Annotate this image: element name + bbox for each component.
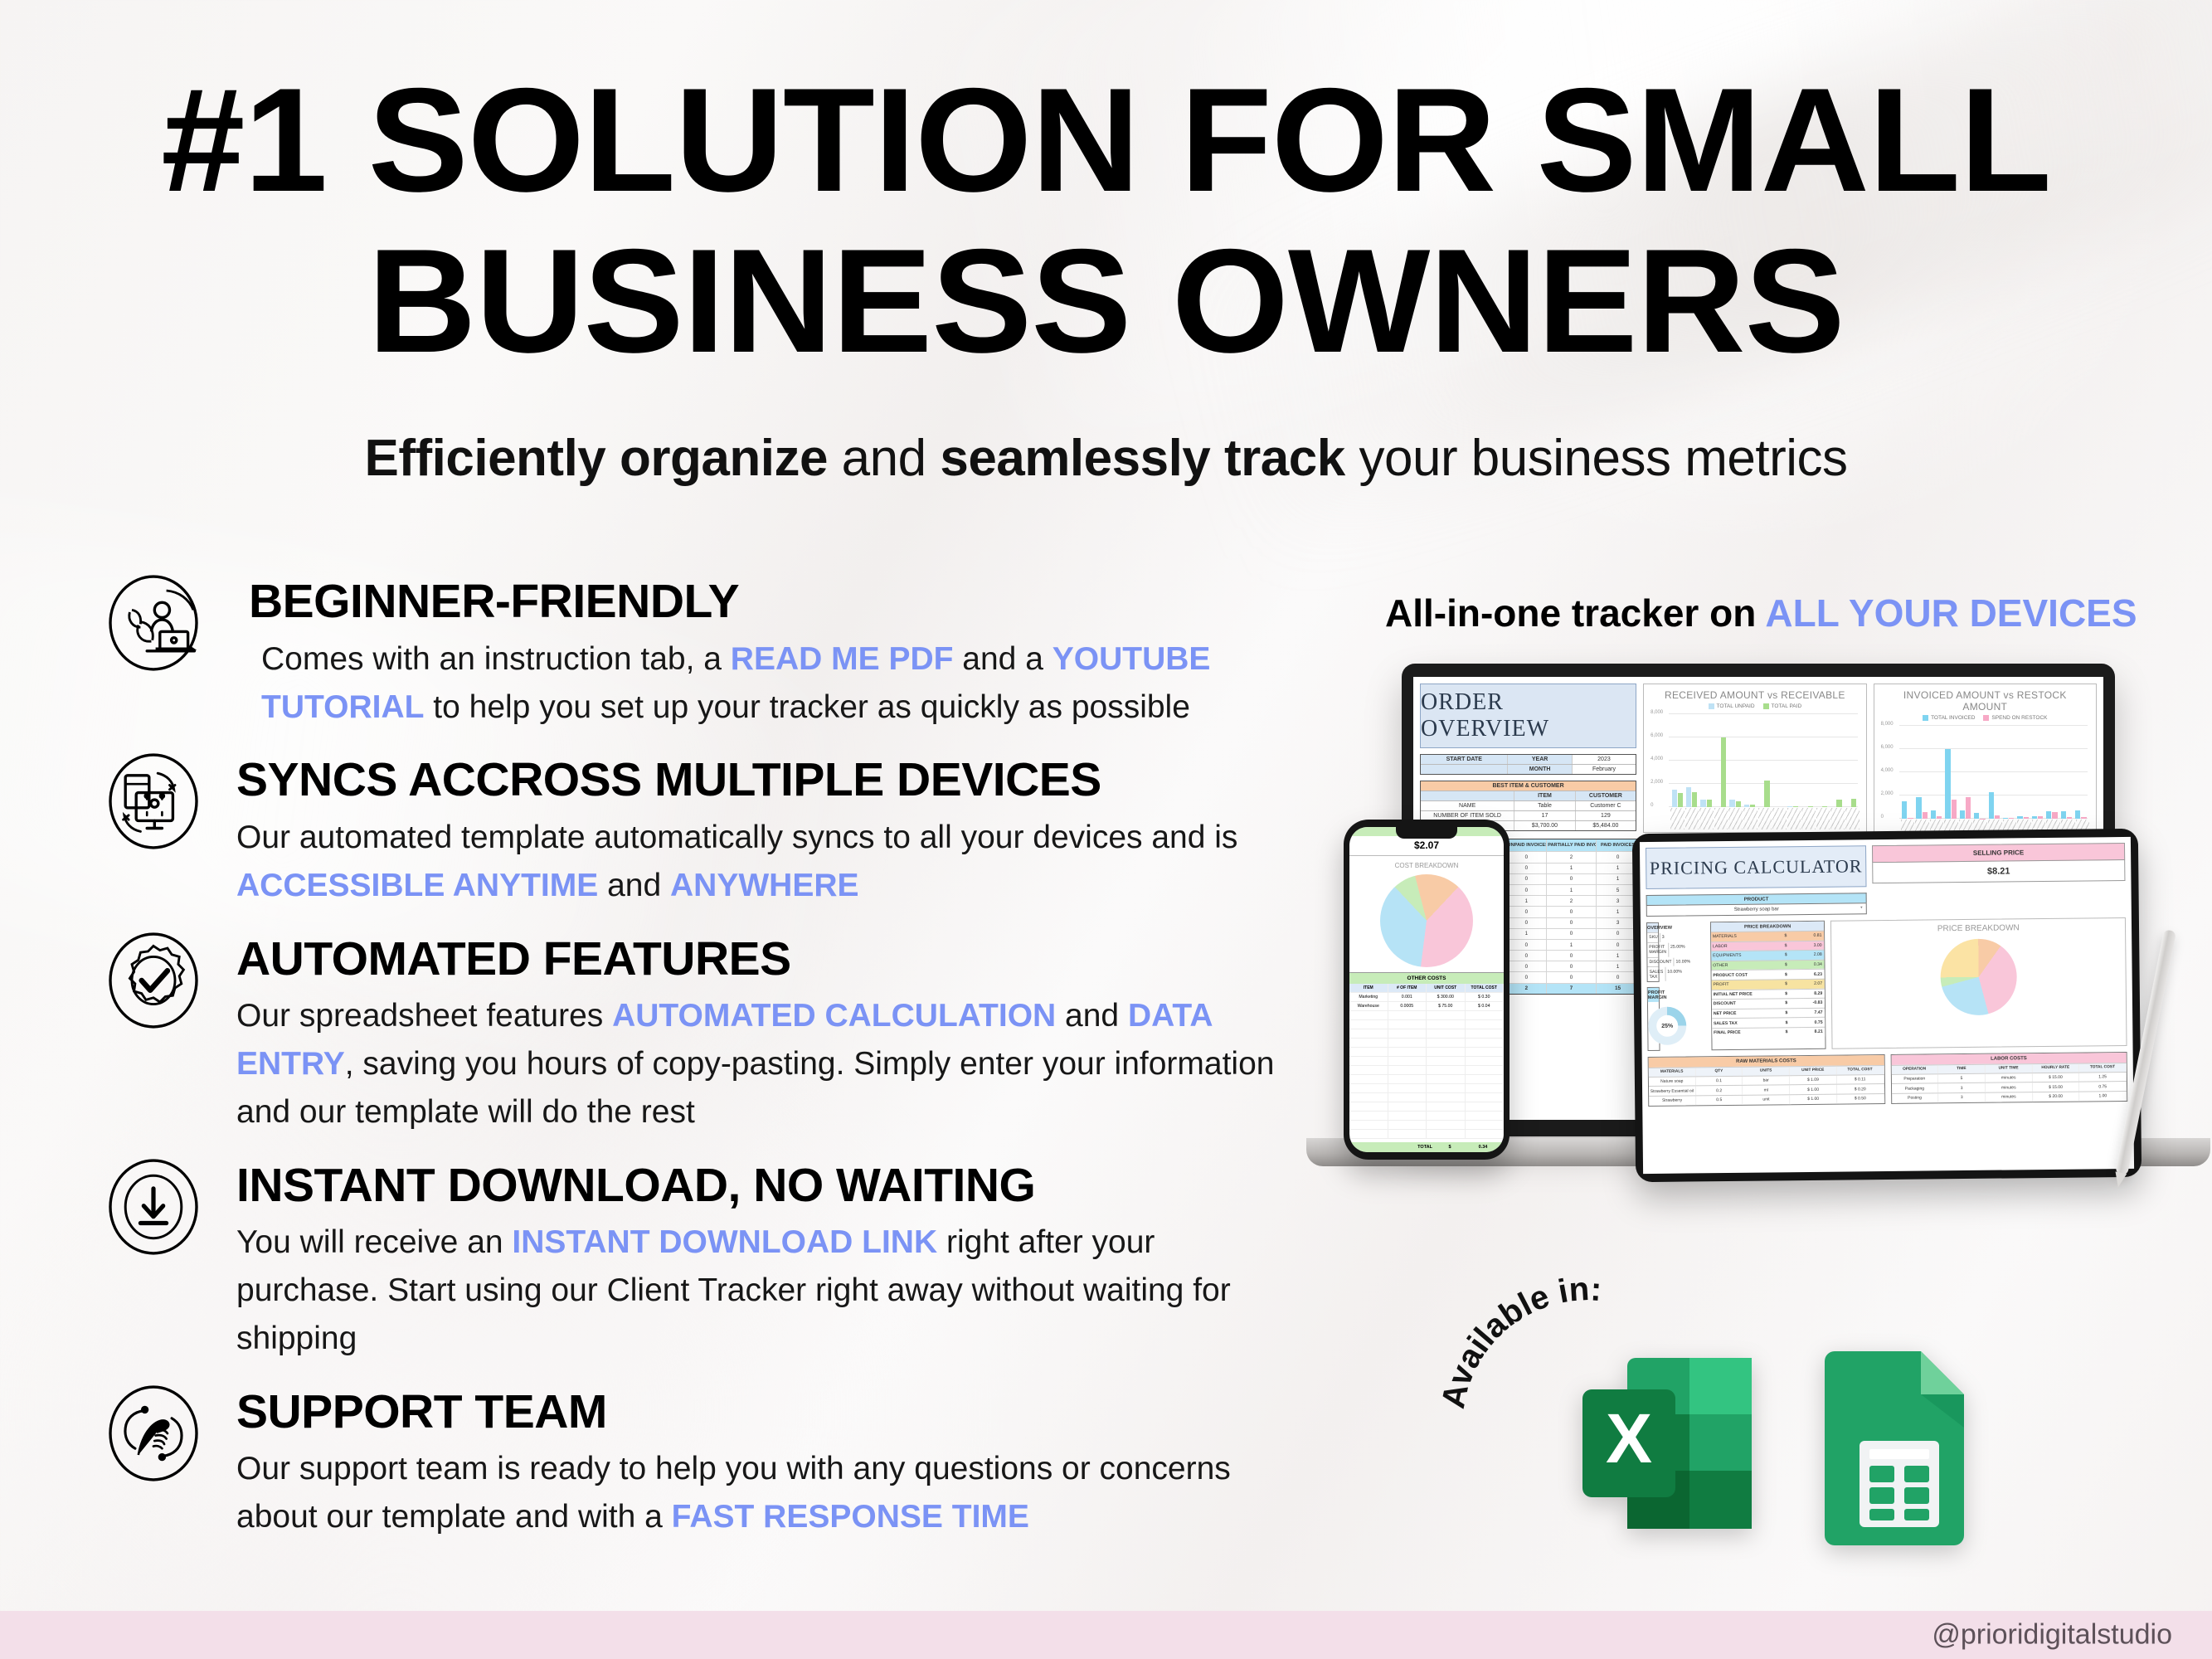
table-header-cell: UNPAID INVOICES: [1507, 839, 1548, 851]
feature-description: Comes with an instruction tab, a READ ME…: [249, 635, 1286, 731]
table-cell: 0: [1507, 972, 1548, 982]
chart-plot-area: 8,0006,0004,0002,0000: [1881, 726, 2089, 819]
table-cell: [1466, 1011, 1505, 1019]
table-cell: [1388, 1048, 1427, 1056]
devices-heading-plain: All-in-one tracker on: [1385, 591, 1765, 635]
table-cell: ml: [1743, 1086, 1790, 1095]
table-row: SALES TAX10.00%: [1647, 966, 1659, 981]
studio-handle: @prioridigitalstudio: [1932, 1619, 2172, 1652]
table-cell: $ 1.00: [1790, 1085, 1837, 1094]
table-cell: PROFIT MARGIN: [1647, 943, 1668, 957]
table-cell: 6.23: [1791, 970, 1825, 979]
table-cell: [1427, 1102, 1466, 1111]
devices-heading: All-in-one tracker on ALL YOUR DEVICES: [1385, 591, 2132, 635]
table-cell: $ 0.50: [1837, 1094, 1884, 1103]
feature-description: You will receive an INSTANT DOWNLOAD LIN…: [236, 1219, 1277, 1362]
table-cell: 1: [1507, 929, 1548, 939]
table-cell: INITIAL NET PRICE: [1712, 990, 1782, 999]
table-cell: 0.81: [1790, 932, 1824, 941]
table-cell: $: [1782, 980, 1791, 989]
table-cell: $: [1782, 961, 1791, 970]
table-cell: 1.00: [2079, 1092, 2127, 1101]
devices-heading-highlight: ALL YOUR DEVICES: [1765, 591, 2137, 635]
table-cell: 1.25: [2079, 1073, 2127, 1082]
table-cell: [1466, 1057, 1505, 1065]
desc-highlight-automated-calculation: AUTOMATED CALCULATION: [612, 998, 1056, 1034]
table-cell: [1427, 1075, 1466, 1083]
table-cell: $ 0.04: [1466, 1002, 1505, 1010]
table-cell: 0: [1507, 874, 1548, 884]
chart-x-tick-labels: [1670, 808, 1859, 829]
table-header-cell: UNIT COST: [1427, 984, 1466, 992]
table-cell: FINAL PRICE: [1712, 1028, 1782, 1037]
table-cell: 10.00%: [1665, 967, 1684, 981]
table-cell: 1: [1507, 896, 1548, 906]
table-cell: [1388, 1121, 1427, 1129]
table-cell: $: [1782, 1019, 1791, 1028]
overview-table: OVERVIEW SKU3PROFIT MARGIN25.00%DISCOUNT…: [1646, 922, 1660, 982]
table-cell: [1349, 1039, 1388, 1047]
feature-item-automated-features: AUTOMATED FEATURES Our spreadsheet featu…: [100, 927, 1286, 1136]
phone-total-row: TOTAL $ 0.34: [1349, 1142, 1504, 1152]
table-cell: Warehouse: [1349, 1002, 1388, 1010]
table-cell: MATERIALS: [1711, 932, 1782, 941]
person-laptop-leaf-icon: [100, 569, 207, 677]
table-cell: $: [1782, 999, 1791, 1008]
phone-table-title: OTHER COSTS: [1349, 972, 1504, 984]
feature-item-instant-download: INSTANT DOWNLOAD, NO WAITING You will re…: [100, 1153, 1286, 1363]
table-cell: [1427, 1121, 1466, 1129]
table-cell: $: [1782, 1028, 1791, 1037]
table-cell: 0: [1507, 864, 1548, 873]
table-cell: 3: [1938, 1083, 1986, 1092]
feature-description: Our spreadsheet features AUTOMATED CALCU…: [236, 992, 1277, 1136]
table-header-cell: ITEM: [1349, 984, 1388, 992]
phone-chart-title: COST BREAKDOWN: [1349, 862, 1504, 869]
table-cell: [1388, 1011, 1427, 1019]
price-breakdown-pie-panel: PRICE BREAKDOWN: [1830, 917, 2127, 1049]
table-cell: [1349, 1011, 1388, 1019]
table-cell: 0.75: [2079, 1082, 2127, 1091]
table-cell: $ 0.11: [1837, 1075, 1884, 1084]
table-cell: 0.34: [1791, 961, 1825, 970]
table-cell: [1427, 1057, 1466, 1065]
table-row: [1349, 1084, 1504, 1093]
table-cell: $: [1782, 990, 1791, 999]
table-cell: 0.001: [1388, 993, 1427, 1001]
feature-item-syncs-devices: SYNCS ACCROSS MULTIPLE DEVICES Our autom…: [100, 747, 1286, 909]
start-date-table: START DATEYEAR2023 MONTHFebruary: [1420, 754, 1636, 775]
table-row: SALES TAX$0.75: [1712, 1017, 1826, 1028]
subtitle-mid: and: [828, 430, 940, 487]
table-cell: 0: [1547, 874, 1597, 884]
handshake-support-icon: [100, 1379, 207, 1487]
google-sheets-logo: [1816, 1340, 1982, 1555]
table-header-cell: TOTAL COST: [1837, 1066, 1884, 1074]
table-row: Marketing0.001$ 300.00$ 0.30: [1349, 993, 1504, 1002]
table-row: LABOR$3.00: [1711, 940, 1825, 951]
table-cell: [1388, 1057, 1427, 1065]
table-cell: [1427, 1048, 1466, 1056]
table-cell: [1349, 1057, 1388, 1065]
table-cell: [1349, 1121, 1388, 1129]
table-header-cell: HOURLY RATE: [2032, 1064, 2079, 1073]
table-cell: [1349, 1020, 1388, 1029]
table-cell: [1466, 1121, 1505, 1129]
table-cell: -0.83: [1791, 999, 1825, 1008]
table-row: PROFIT MARGIN25.00%: [1647, 942, 1659, 957]
table-row: SKU3: [1647, 932, 1658, 942]
table-cell: $ 0.20: [1837, 1084, 1884, 1093]
table-row: [1349, 1020, 1504, 1029]
table-cell: [1349, 1029, 1388, 1038]
table-cell: $: [1781, 932, 1790, 941]
table-cell: 10.00%: [1673, 957, 1692, 966]
table-cell: [1349, 1084, 1388, 1092]
table-cell: SALES TAX: [1648, 967, 1665, 981]
feature-item-beginner-friendly: BEGINNER-FRIENDLY Comes with an instruct…: [100, 569, 1286, 731]
table-row: DISCOUNT10.00%: [1647, 956, 1658, 966]
phone-notch: [1396, 827, 1457, 839]
table-cell: [1466, 1039, 1505, 1047]
table-cell: 2: [1547, 896, 1597, 906]
feature-title: SUPPORT TEAM: [236, 1388, 1286, 1438]
desc-part: and: [1056, 998, 1128, 1034]
table-row: INITIAL NET PRICE$8.29: [1712, 988, 1826, 999]
table-header-cell: TOTAL COST: [1466, 984, 1505, 992]
feature-item-support-team: SUPPORT TEAM Our support team is ready t…: [100, 1379, 1286, 1541]
feature-description: Our automated template automatically syn…: [236, 814, 1277, 909]
table-cell: 2.08: [1791, 951, 1825, 960]
labor-costs-table: LABOR COSTS OPERATIONTIMEUNIT TIMEHOURLY…: [1890, 1052, 2127, 1103]
table-cell: 0: [1507, 907, 1548, 917]
table-header-cell: UNIT TIME: [1986, 1064, 2033, 1073]
table-cell: 0: [1507, 918, 1548, 928]
table-cell: 0.5: [1696, 1096, 1743, 1105]
table-cell: $: [1782, 951, 1791, 960]
table-cell: 0.75: [1791, 1018, 1825, 1027]
table-cell: [1349, 1066, 1388, 1074]
raw-materials-costs-table: RAW MATERIALS COSTS MATERIALSQTYUNITSUNI…: [1648, 1054, 1885, 1106]
feature-title: AUTOMATED FEATURES: [236, 935, 1286, 985]
table-cell: 0.1: [1696, 1077, 1743, 1086]
table-cell: 2.07: [1791, 980, 1825, 989]
table-cell: Strawberry Essential oil: [1649, 1087, 1696, 1096]
page-title-line2: BUSINESS OWNERS: [0, 226, 2212, 377]
desc-part: Our automated template automatically syn…: [236, 820, 1237, 855]
table-cell: [1466, 1130, 1505, 1138]
table-cell: [1349, 1048, 1388, 1056]
table-cell: [1388, 1039, 1427, 1047]
chart-plot-area: 8,0006,0004,0002,0000: [1650, 714, 1859, 807]
table-cell: $ 15.00: [2033, 1082, 2080, 1092]
price-breakdown-pie: [1940, 938, 2017, 1015]
table-cell: $ 0.30: [1466, 993, 1505, 1001]
table-cell: 3: [1938, 1093, 1986, 1102]
price-breakdown-table: PRICE BREAKDOWN MATERIALS$0.81LABOR$3.00…: [1710, 921, 1826, 1051]
microsoft-excel-logo: X: [1568, 1340, 1767, 1547]
table-header-cell: OPERATION: [1891, 1065, 1938, 1073]
table-row: [1349, 1039, 1504, 1048]
feature-description: Our support team is ready to help you wi…: [236, 1445, 1277, 1540]
feature-title: INSTANT DOWNLOAD, NO WAITING: [236, 1161, 1286, 1211]
file-format-logos: X: [1568, 1340, 1982, 1555]
table-cell: [1466, 1093, 1505, 1102]
table-row: NET PRICE$7.47: [1712, 1008, 1826, 1019]
table-cell: $ 20.00: [2033, 1092, 2080, 1101]
table-cell: LABOR: [1711, 941, 1782, 951]
table-cell: [1388, 1102, 1427, 1111]
table-cell: Packaging: [1891, 1084, 1938, 1093]
phone-profit-value: $2.07: [1349, 836, 1504, 856]
table-cell: [1427, 1066, 1466, 1074]
table-row: [1349, 1048, 1504, 1057]
table-cell: [1466, 1112, 1505, 1120]
table-cell: [1427, 1011, 1466, 1019]
table-cell: OTHER: [1711, 961, 1782, 970]
table-cell: Strawberry: [1649, 1096, 1696, 1105]
desc-highlight-instant-download-link: INSTANT DOWNLOAD LINK: [512, 1224, 937, 1260]
table-cell: 3: [1660, 933, 1666, 942]
svg-text:X: X: [1606, 1399, 1652, 1477]
profit-margin-donut: 25%: [1648, 1007, 1686, 1045]
table-cell: [1427, 1029, 1466, 1038]
subtitle-tail: your business metrics: [1345, 430, 1848, 487]
feature-title: SYNCS ACCROSS MULTIPLE DEVICES: [236, 756, 1286, 805]
page-header: #1 SOLUTION FOR SMALL BUSINESS OWNERS Ef…: [0, 0, 2212, 488]
table-cell: 0: [1547, 972, 1597, 982]
table-cell: [1388, 1112, 1427, 1120]
phone-screen: PROFIT $2.07 COST BREAKDOWN OTHER COSTS …: [1349, 827, 1504, 1152]
table-row: [1349, 1093, 1504, 1102]
table-cell: Nature soap: [1649, 1077, 1696, 1086]
pricing-calculator-title: PRICING CALCULATOR: [1646, 845, 1866, 889]
table-cell: [1388, 1066, 1427, 1074]
selling-price-value: $8.21: [1872, 860, 2125, 883]
table-cell: 5: [1938, 1073, 1986, 1082]
table-row: PROFIT$2.07: [1711, 979, 1825, 990]
table-cell: SALES TAX: [1712, 1019, 1782, 1028]
table-cell: [1466, 1029, 1505, 1038]
desc-part: You will receive an: [236, 1224, 512, 1260]
table-cell: $: [1782, 1009, 1791, 1018]
table-cell: [1388, 1075, 1427, 1083]
desc-part: , saving you hours of copy-pasting. Simp…: [236, 1046, 1274, 1130]
table-cell: [1466, 1102, 1505, 1111]
table-cell: [1466, 1066, 1505, 1074]
chart-legend: TOTAL INVOICED SPEND ON RESTOCK: [1881, 715, 2089, 721]
table-cell: 0: [1507, 961, 1548, 971]
table-cell: minutes: [1986, 1092, 2033, 1102]
table-cell: 0: [1507, 885, 1548, 895]
device-mockup-group: ORDER OVERVIEW START DATEYEAR2023 MONTHF…: [1269, 655, 2190, 1186]
page-subtitle: Efficiently organize and seamlessly trac…: [0, 429, 2212, 488]
desc-highlight-fast-response-time: FAST RESPONSE TIME: [672, 1499, 1029, 1535]
table-cell: minutes: [1986, 1082, 2033, 1092]
table-cell: [1427, 1039, 1466, 1047]
table-cell: $ 15.00: [2032, 1073, 2079, 1082]
table-row: OTHER$0.34: [1711, 960, 1825, 971]
gear-check-badge-icon: [100, 927, 207, 1034]
table-cell: $ 75.00: [1427, 1002, 1466, 1010]
table-cell: 7: [1547, 984, 1597, 994]
table-cell: 8.29: [1791, 989, 1825, 998]
table-cell: EQUIPMENTS: [1711, 951, 1782, 961]
table-cell: 1: [1547, 885, 1597, 895]
table-row: [1349, 1075, 1504, 1084]
devices-sync-icon: [100, 747, 207, 855]
table-cell: 8.21: [1791, 1028, 1826, 1037]
chart-invoiced-vs-restock: INVOICED AMOUNT vs RESTOCK AMOUNT TOTAL …: [1874, 684, 2097, 833]
table-cell: 0: [1547, 907, 1597, 917]
table-cell: 0: [1507, 940, 1548, 950]
chart-received-vs-receivable: RECEIVED AMOUNT vs RECEIVABLE TOTAL UNPA…: [1643, 684, 1866, 833]
subtitle-bold-2: seamlessly track: [940, 430, 1344, 487]
table-cell: [1349, 1130, 1388, 1138]
table-header-cell: UNIT PRICE: [1790, 1067, 1837, 1075]
table-row: DISCOUNT$-0.83: [1712, 998, 1826, 1009]
table-cell: [1349, 1075, 1388, 1083]
table-cell: $ 1.00: [1790, 1095, 1837, 1104]
table-cell: [1427, 1020, 1466, 1029]
footer-bar: @prioridigitalstudio: [0, 1611, 2212, 1659]
table-row: Warehouse0.0005$ 75.00$ 0.04: [1349, 1002, 1504, 1011]
desc-part: to help you set up your tracker as quick…: [424, 689, 1189, 725]
table-row: FINAL PRICE$8.21: [1712, 1027, 1826, 1038]
table-cell: [1388, 1084, 1427, 1092]
table-cell: PRODUCT COST: [1711, 971, 1782, 980]
phone-mockup: PROFIT $2.07 COST BREAKDOWN OTHER COSTS …: [1344, 820, 1510, 1160]
table-cell: 1: [1547, 940, 1597, 950]
table-row: [1349, 1112, 1504, 1121]
table-cell: SKU: [1647, 933, 1660, 942]
table-cell: $: [1782, 971, 1791, 980]
table-cell: 7.47: [1791, 1009, 1825, 1018]
table-cell: [1427, 1093, 1466, 1102]
table-row: [1349, 1130, 1504, 1139]
table-cell: $ 1.09: [1790, 1075, 1837, 1084]
desc-part: Our spreadsheet features: [236, 998, 612, 1034]
table-row: MATERIALS$0.81: [1711, 931, 1825, 941]
table-cell: unit: [1743, 1095, 1791, 1104]
table-cell: 0.0005: [1388, 1002, 1427, 1010]
table-header-row: ITEM# OF ITEMUNIT COSTTOTAL COST: [1349, 984, 1504, 993]
table-cell: [1427, 1130, 1466, 1138]
table-cell: [1466, 1084, 1505, 1092]
table-cell: 25.00%: [1668, 942, 1687, 956]
table-cell: 1: [1547, 864, 1597, 873]
table-header-cell: # OF ITEM: [1388, 984, 1427, 992]
table-row: [1349, 1102, 1504, 1112]
table-cell: [1427, 1112, 1466, 1120]
feature-list: BEGINNER-FRIENDLY Comes with an instruct…: [100, 569, 1286, 1558]
desc-part: Comes with an instruction tab, a: [261, 641, 731, 677]
table-cell: [1388, 1029, 1427, 1038]
table-cell: 0.2: [1696, 1086, 1743, 1095]
table-cell: 2: [1507, 984, 1548, 994]
table-cell: 0: [1547, 961, 1597, 971]
table-row: [1349, 1029, 1504, 1039]
table-cell: 0: [1507, 852, 1548, 862]
table-cell: NET PRICE: [1712, 1009, 1782, 1018]
table-cell: [1349, 1102, 1388, 1111]
download-arrow-icon: [100, 1153, 207, 1261]
desc-part: and: [598, 868, 670, 903]
table-row: [1349, 1121, 1504, 1130]
table-cell: Marketing: [1349, 993, 1388, 1001]
table-header-cell: UNITS: [1743, 1067, 1790, 1075]
profit-margin-panel: PROFIT MARGIN 25%: [1647, 987, 1660, 1051]
table-cell: 0: [1507, 951, 1548, 961]
table-cell: [1349, 1093, 1388, 1102]
desc-highlight-accessible-anytime: ACCESSIBLE ANYTIME: [236, 868, 598, 903]
desc-part: and a: [953, 641, 1052, 677]
table-cell: [1388, 1020, 1427, 1029]
table-cell: 0: [1547, 918, 1597, 928]
table-header-cell: PARTIALLY PAID INVOICES: [1547, 839, 1597, 851]
table-row: [1349, 1057, 1504, 1066]
table-cell: 2: [1547, 852, 1597, 862]
table-row: PRODUCT COST$6.23: [1711, 969, 1825, 980]
table-cell: 0: [1547, 929, 1597, 939]
table-row: [1349, 1011, 1504, 1020]
chart-legend: TOTAL UNPAID TOTAL PAID: [1650, 703, 1859, 709]
table-cell: [1427, 1084, 1466, 1092]
table-header-cell: TOTAL COST: [2079, 1063, 2127, 1072]
table-row: EQUIPMENTS$2.08: [1711, 950, 1825, 961]
phone-other-costs-table: ITEM# OF ITEMUNIT COSTTOTAL COSTMarketin…: [1349, 984, 1504, 1139]
table-cell: [1388, 1130, 1427, 1138]
table-cell: Preparation: [1891, 1074, 1938, 1083]
table-header-cell: QTY: [1695, 1068, 1743, 1076]
desc-highlight-read-me-pdf: READ ME PDF: [731, 641, 954, 677]
table-cell: $: [1781, 941, 1790, 951]
table-cell: [1388, 1093, 1427, 1102]
table-cell: DISCOUNT: [1712, 999, 1782, 1008]
pricing-calculator-spreadsheet: PRICING CALCULATOR PRODUCT Strawberry so…: [1640, 837, 2133, 1112]
table-cell: 0: [1547, 951, 1597, 961]
table-cell: DISCOUNT: [1647, 957, 1673, 966]
table-header-cell: TIME: [1938, 1065, 1986, 1073]
table-row: [1349, 1066, 1504, 1075]
table-cell: [1466, 1048, 1505, 1056]
tablet-screen: PRICING CALCULATOR PRODUCT Strawberry so…: [1640, 837, 2134, 1174]
subtitle-bold-1: Efficiently organize: [364, 430, 827, 487]
table-cell: minutes: [1986, 1073, 2033, 1082]
feature-title: BEGINNER-FRIENDLY: [249, 577, 1286, 627]
order-overview-title: ORDER OVERVIEW: [1420, 684, 1636, 748]
table-cell: [1349, 1112, 1388, 1120]
table-cell: $ 300.00: [1427, 993, 1466, 1001]
desc-highlight-anywhere: ANYWHERE: [670, 868, 859, 903]
table-cell: [1466, 1075, 1505, 1083]
cost-breakdown-pie: [1380, 874, 1473, 967]
table-cell: PROFIT: [1711, 980, 1782, 989]
table-cell: 3.00: [1790, 941, 1824, 950]
product-dropdown[interactable]: Strawberry soap bar: [1646, 902, 1867, 917]
tablet-mockup: PRICING CALCULATOR PRODUCT Strawberry so…: [1632, 829, 2142, 1182]
table-cell: Posting: [1892, 1093, 1939, 1102]
table-header-cell: MATERIALS: [1649, 1068, 1696, 1077]
table-cell: [1466, 1020, 1505, 1029]
page-title-line1: #1 SOLUTION FOR SMALL: [0, 65, 2212, 216]
table-cell: bar: [1743, 1076, 1790, 1085]
